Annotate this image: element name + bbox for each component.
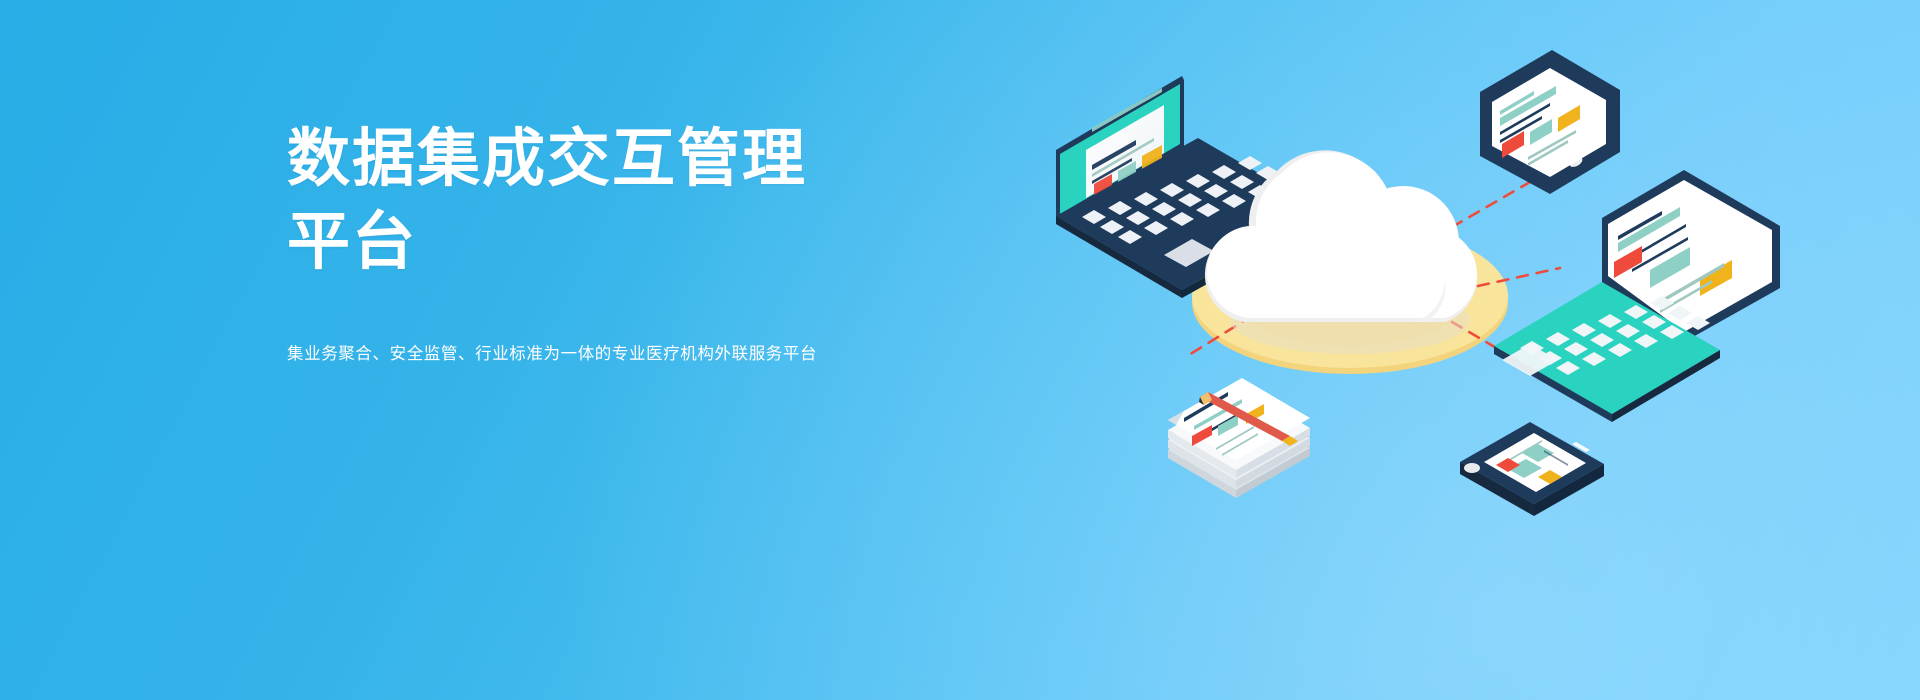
page-title: 数据集成交互管理 平台 — [287, 118, 927, 284]
page-subtitle: 集业务聚合、安全监管、行业标准为一体的专业医疗机构外联服务平台 — [287, 341, 927, 367]
tablet-top — [1480, 50, 1620, 194]
smartphone — [1460, 422, 1604, 516]
isometric-illustration: 数据集成交互 管理平台 — [1060, 70, 1860, 590]
laptop-right — [1494, 170, 1780, 422]
hero-banner: 数据集成交互管理 平台 集业务聚合、安全监管、行业标准为一体的专业医疗机构外联服… — [0, 0, 1920, 700]
hero-copy: 数据集成交互管理 平台 集业务聚合、安全监管、行业标准为一体的专业医疗机构外联服… — [287, 118, 927, 368]
document-stack — [1168, 378, 1310, 498]
